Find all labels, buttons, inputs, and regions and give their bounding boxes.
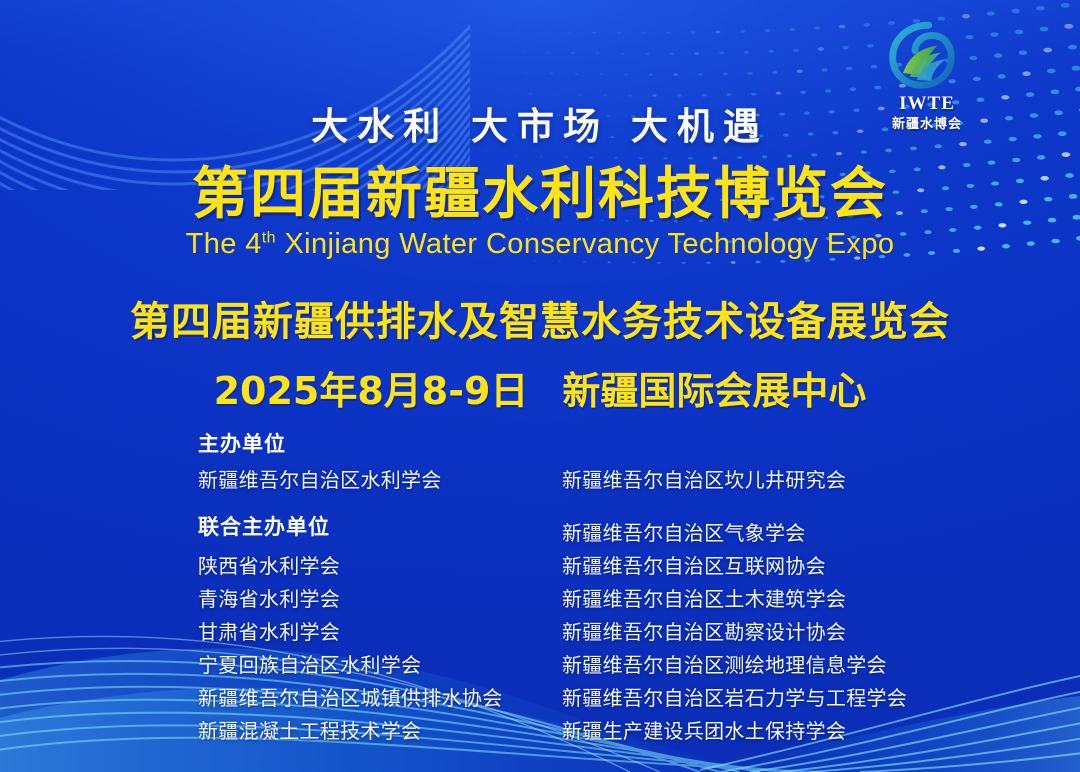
- cohost-row-0: 联合主办单位 新疆维吾尔自治区气象学会: [198, 517, 978, 550]
- english-subtitle: The 4th Xinjiang Water Conservancy Techn…: [0, 228, 1080, 261]
- host-heading-row: 主办单位: [198, 434, 978, 464]
- list-item: 新疆维吾尔自治区城镇供排水协会: [198, 682, 562, 715]
- logo-chinese-name: 新疆水博会: [868, 118, 986, 131]
- cohost-heading: 联合主办单位: [198, 517, 562, 538]
- cohost-heading-cell: 联合主办单位: [198, 517, 562, 550]
- list-item: 宁夏回族自治区水利学会: [198, 649, 562, 682]
- date-venue-line: 2025年8月8-9日新疆国际会展中心: [0, 360, 1080, 415]
- list-item: 新疆维吾尔自治区勘察设计协会: [562, 616, 978, 649]
- list-item: 新疆维吾尔自治区水利学会: [198, 464, 562, 497]
- expo-poster: IWTE 新疆水博会 大水利 大市场 大机遇 第四届新疆水利科技博览会 The …: [0, 0, 1080, 772]
- organizers-section: 主办单位 新疆维吾尔自治区水利学会 新疆维吾尔自治区坎儿井研究会 联合主办单位 …: [198, 434, 978, 748]
- english-subtitle-ordinal: th: [262, 229, 276, 246]
- list-item: 新疆生产建设兵团水土保持学会: [562, 715, 978, 748]
- cohost-right-cell-0: 新疆维吾尔自治区气象学会: [562, 517, 978, 550]
- cohost-left-cell-0: 陕西省水利学会: [198, 550, 562, 583]
- list-item: 新疆维吾尔自治区测绘地理信息学会: [562, 649, 978, 682]
- list-item: 新疆维吾尔自治区坎儿井研究会: [562, 464, 978, 497]
- cohost-row-5: 新疆维吾尔自治区城镇供排水协会 新疆维吾尔自治区岩石力学与工程学会: [198, 682, 978, 715]
- list-item: 青海省水利学会: [198, 583, 562, 616]
- event-date: 2025年8月8-9日: [214, 369, 529, 413]
- cohost-right-cell-1: 新疆维吾尔自治区互联网协会: [562, 550, 978, 583]
- secondary-title: 第四届新疆供排水及智慧水务技术设备展览会: [0, 289, 1080, 347]
- list-item: 陕西省水利学会: [198, 550, 562, 583]
- logo-acronym: IWTE: [868, 94, 986, 113]
- cohost-row-4: 宁夏回族自治区水利学会 新疆维吾尔自治区测绘地理信息学会: [198, 649, 978, 682]
- cohost-row-2: 青海省水利学会 新疆维吾尔自治区土木建筑学会: [198, 583, 978, 616]
- cohost-left-cell-3: 宁夏回族自治区水利学会: [198, 649, 562, 682]
- cohost-left-cell-4: 新疆维吾尔自治区城镇供排水协会: [198, 682, 562, 715]
- iwte-logo: IWTE 新疆水博会: [868, 20, 986, 138]
- cohost-row-6: 新疆混凝土工程技术学会 新疆生产建设兵团水土保持学会: [198, 715, 978, 748]
- cohost-right-cell-6: 新疆生产建设兵团水土保持学会: [562, 715, 978, 748]
- event-venue: 新疆国际会展中心: [562, 369, 866, 413]
- host-right-cell: 新疆维吾尔自治区坎儿井研究会: [562, 464, 978, 497]
- list-item: 新疆维吾尔自治区岩石力学与工程学会: [562, 682, 978, 715]
- wave-swirl-logo-icon: [884, 20, 970, 92]
- list-item: 甘肃省水利学会: [198, 616, 562, 649]
- list-item: 新疆维吾尔自治区互联网协会: [562, 550, 978, 583]
- host-row: 新疆维吾尔自治区水利学会 新疆维吾尔自治区坎儿井研究会: [198, 464, 978, 497]
- cohost-left-cell-5: 新疆混凝土工程技术学会: [198, 715, 562, 748]
- cohost-left-cell-2: 甘肃省水利学会: [198, 616, 562, 649]
- cohost-left-cell-1: 青海省水利学会: [198, 583, 562, 616]
- english-subtitle-rest: Xinjiang Water Conservancy Technology Ex…: [276, 228, 894, 260]
- english-subtitle-prefix: The 4: [186, 228, 262, 260]
- section-spacer: [198, 497, 978, 517]
- host-heading: 主办单位: [198, 434, 562, 455]
- cohost-row-3: 甘肃省水利学会 新疆维吾尔自治区勘察设计协会: [198, 616, 978, 649]
- host-heading-cell: 主办单位: [198, 434, 562, 464]
- host-left-cell: 新疆维吾尔自治区水利学会: [198, 464, 562, 497]
- main-title: 第四届新疆水利科技博览会: [0, 166, 1080, 225]
- list-item: 新疆混凝土工程技术学会: [198, 715, 562, 748]
- cohost-right-cell-2: 新疆维吾尔自治区土木建筑学会: [562, 583, 978, 616]
- poster-content: IWTE 新疆水博会 大水利 大市场 大机遇 第四届新疆水利科技博览会 The …: [0, 0, 1080, 772]
- cohost-right-cell-5: 新疆维吾尔自治区岩石力学与工程学会: [562, 682, 978, 715]
- host-heading-spacer: [562, 434, 978, 464]
- cohost-right-cell-3: 新疆维吾尔自治区勘察设计协会: [562, 616, 978, 649]
- list-item: 新疆维吾尔自治区气象学会: [562, 517, 978, 550]
- cohost-right-cell-4: 新疆维吾尔自治区测绘地理信息学会: [562, 649, 978, 682]
- list-item: 新疆维吾尔自治区土木建筑学会: [562, 583, 978, 616]
- cohost-row-1: 陕西省水利学会 新疆维吾尔自治区互联网协会: [198, 550, 978, 583]
